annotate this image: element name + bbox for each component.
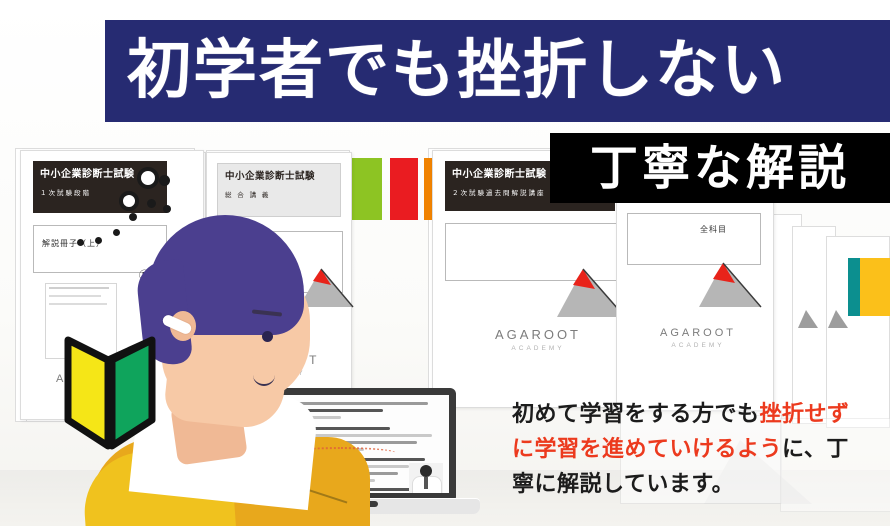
spine-yellow	[860, 258, 890, 316]
bead-icon	[77, 239, 84, 246]
booklet-1-figure-line	[49, 287, 109, 289]
body-copy-line-3: 寧に解説しています。	[512, 468, 886, 503]
bead-icon	[163, 205, 171, 213]
arrow-mark-icon	[826, 306, 852, 337]
agaroot-triangle-icon	[695, 253, 765, 313]
brand-sub: ACADEMY	[463, 345, 613, 352]
bead-icon	[147, 199, 156, 208]
booklet-4: 全科目 AGAROOT ACADEMY	[616, 198, 774, 412]
booklet-2-title: 中小企業診断士試験	[225, 170, 333, 184]
body-copy-seg-2: に、丁	[782, 437, 849, 462]
brand-logo-booklet-4: AGAROOT ACADEMY	[633, 327, 763, 349]
booklet-2-subtitle: 総 合 講 義	[225, 191, 333, 201]
booklet-1-figure-line	[49, 303, 107, 305]
instructor-thumbnail	[409, 463, 443, 493]
bead-icon	[119, 191, 139, 211]
body-copy: 初めて学習をする方でも挫折せず に学習を進めていけるように、丁 寧に解説していま…	[512, 398, 886, 502]
brand-name: AGAROOT	[463, 327, 613, 342]
brand-logo-booklet-3: AGAROOT ACADEMY	[463, 327, 613, 352]
sub-banner-text: 丁寧な解説	[590, 144, 850, 192]
sub-banner: 丁寧な解説	[550, 133, 890, 203]
bead-icon	[137, 167, 159, 189]
brand-sub: ACADEMY	[633, 342, 763, 349]
bead-icon	[159, 175, 170, 186]
promo-banner: 中小企業診断士試験 １次試験段階 解説冊子（上） Ⓓ AGAROOT ACADE…	[0, 0, 890, 526]
booklet-2-cover: 中小企業診断士試験 総 合 講 義	[217, 163, 341, 217]
beginner-mark-icon	[62, 332, 158, 452]
spine-red	[390, 158, 418, 220]
booklet-1-subtitle: １次試験段階	[40, 189, 160, 199]
bead-icon	[95, 237, 102, 244]
body-copy-highlight-2: に学習を進めていけるよう	[512, 437, 782, 462]
headline-banner: 初学者でも挫折しない	[105, 20, 890, 122]
body-copy-seg-3: 寧に解説しています。	[512, 472, 734, 497]
arrow-mark-icon	[796, 306, 822, 337]
body-copy-seg-1: 初めて学習をする方でも	[512, 402, 760, 427]
headline-text: 初学者でも挫折しない	[105, 39, 787, 103]
body-copy-line-2: に学習を進めていけるように、丁	[512, 433, 886, 468]
spine-green	[352, 158, 382, 220]
brand-name: AGAROOT	[633, 327, 763, 339]
body-copy-highlight-1: 挫折せず	[760, 402, 850, 427]
body-copy-line-1: 初めて学習をする方でも挫折せず	[512, 398, 886, 433]
booklet-4-box-label: 全科目	[700, 224, 727, 235]
booklet-1-figure-line	[49, 295, 101, 297]
